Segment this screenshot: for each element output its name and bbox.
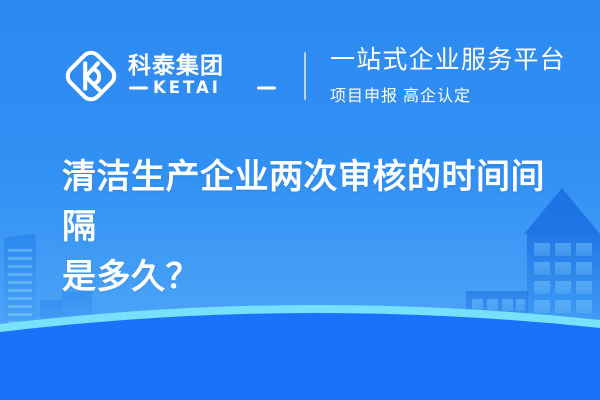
- banner-header: 科泰集团 KETAI 一站式企业服务平台 项目申报 高企认定: [0, 30, 600, 122]
- brand-logo[interactable]: 科泰集团 KETAI: [62, 47, 278, 105]
- page-title-line-1: 清洁生产企业两次审核的时间间隔: [62, 152, 562, 252]
- brand-wordmark: 科泰集团 KETAI: [128, 49, 278, 99]
- header-divider: [304, 52, 306, 100]
- slogan-sub: 项目申报 高企认定: [330, 82, 566, 106]
- wordmark-rule-right: [257, 86, 276, 89]
- page-title-line-2: 是多久？: [62, 252, 562, 302]
- brand-name-cn: 科泰集团: [128, 52, 224, 79]
- page-title: 清洁生产企业两次审核的时间间隔 是多久？: [62, 152, 562, 302]
- ketai-diamond-kp-logo-icon: [62, 47, 120, 105]
- promo-banner: 科泰集团 KETAI 一站式企业服务平台 项目申报 高企认定 清洁生产企业两次审…: [0, 0, 600, 400]
- slogan-block: 一站式企业服务平台 项目申报 高企认定: [330, 46, 566, 106]
- wordmark-rule-left: [129, 86, 148, 89]
- brand-name-en: KETAI: [153, 78, 221, 97]
- slogan-main: 一站式企业服务平台: [330, 46, 566, 74]
